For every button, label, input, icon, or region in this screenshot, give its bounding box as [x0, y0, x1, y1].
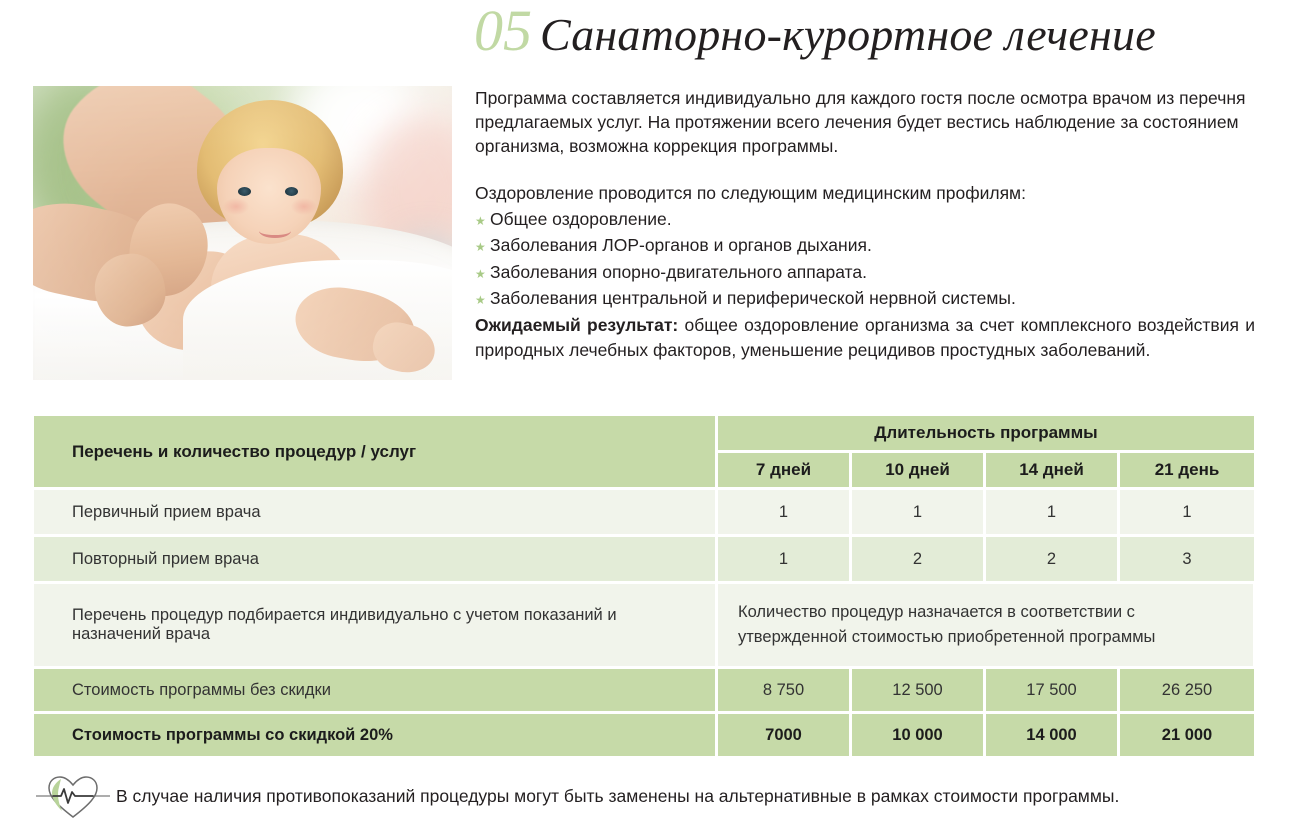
expected-result-label: Ожидаемый результат:	[475, 315, 678, 335]
profiles-block: Оздоровление проводится по следующим мед…	[475, 181, 1265, 313]
table-header-right: Длительность программы 7 дней 10 дней 14…	[718, 416, 1254, 487]
row-value: 17 500	[986, 669, 1117, 711]
row-value: 14 000	[986, 714, 1117, 756]
page-header: 05 Санаторно-курортное лечение	[474, 2, 1274, 68]
programs-table: Перечень и количество процедур / услуг Д…	[34, 416, 1253, 759]
list-item-label: Заболевания ЛОР-органов и органов дыхани…	[490, 233, 872, 258]
row-value: 1	[1120, 490, 1254, 534]
row-value: 8 750	[718, 669, 849, 711]
star-bullet-icon: ★	[475, 235, 490, 260]
star-bullet-icon: ★	[475, 209, 490, 234]
heart-pulse-icon	[34, 768, 112, 824]
row-value: 10 000	[852, 714, 983, 756]
list-item: ★ Общее оздоровление.	[475, 207, 1265, 234]
row-label: Первичный прием врача	[34, 490, 715, 534]
row-value: 1	[852, 490, 983, 534]
table-header: Перечень и количество процедур / услуг Д…	[34, 416, 1253, 487]
star-bullet-icon: ★	[475, 262, 490, 287]
footer-note-text: В случае наличия противопоказаний процед…	[112, 784, 1119, 808]
row-label: Стоимость программы со скидкой 20%	[34, 714, 715, 756]
table-header-name: Перечень и количество процедур / услуг	[34, 416, 715, 487]
intro-paragraph: Программа составляется индивидуально для…	[475, 86, 1255, 158]
table-row: Стоимость программы без скидки 8 750 12 …	[34, 669, 1253, 711]
page-title: Санаторно-курортное лечение	[540, 9, 1156, 61]
row-value: 12 500	[852, 669, 983, 711]
star-bullet-icon: ★	[475, 288, 490, 313]
expected-result-paragraph: Ожидаемый результат: общее оздоровление …	[475, 313, 1255, 362]
brochure-page: 05 Санаторно-курортное лечение Программа…	[0, 0, 1292, 831]
row-value: 7000	[718, 714, 849, 756]
row-label: Повторный прием врача	[34, 537, 715, 581]
row-value: 21 000	[1120, 714, 1254, 756]
table-row-merged: Перечень процедур подбирается индивидуал…	[34, 584, 1253, 666]
massage-photo	[33, 86, 452, 380]
list-item-label: Общее оздоровление.	[490, 207, 672, 232]
section-number: 05	[474, 2, 532, 60]
column-header-14: 14 дней	[986, 453, 1117, 487]
table-row: Первичный прием врача 1 1 1 1	[34, 490, 1253, 534]
row-value: 3	[1120, 537, 1254, 581]
table-header-group: Длительность программы	[718, 416, 1254, 450]
table-row: Стоимость программы со скидкой 20% 7000 …	[34, 714, 1253, 756]
column-header-21: 21 день	[1120, 453, 1254, 487]
list-item-label: Заболевания центральной и периферической…	[490, 286, 1016, 311]
column-header-7: 7 дней	[718, 453, 849, 487]
row-value: 2	[986, 537, 1117, 581]
table-header-columns: 7 дней 10 дней 14 дней 21 день	[718, 453, 1254, 487]
column-header-10: 10 дней	[852, 453, 983, 487]
row-label: Перечень процедур подбирается индивидуал…	[34, 584, 715, 666]
row-merged-value: Количество процедур назначается в соотве…	[718, 584, 1253, 666]
list-item: ★ Заболевания опорно-двигательного аппар…	[475, 260, 1265, 287]
row-label: Стоимость программы без скидки	[34, 669, 715, 711]
footer-note: В случае наличия противопоказаний процед…	[34, 768, 1259, 824]
list-item: ★ Заболевания центральной и периферическ…	[475, 286, 1265, 313]
row-value: 1	[718, 537, 849, 581]
list-item-label: Заболевания опорно-двигательного аппарат…	[490, 260, 867, 285]
row-value: 1	[718, 490, 849, 534]
row-value: 2	[852, 537, 983, 581]
table-row: Повторный прием врача 1 2 2 3	[34, 537, 1253, 581]
list-item: ★ Заболевания ЛОР-органов и органов дыха…	[475, 233, 1265, 260]
profiles-lead: Оздоровление проводится по следующим мед…	[475, 181, 1265, 206]
row-value: 26 250	[1120, 669, 1254, 711]
photo-vignette	[33, 86, 452, 380]
row-value: 1	[986, 490, 1117, 534]
